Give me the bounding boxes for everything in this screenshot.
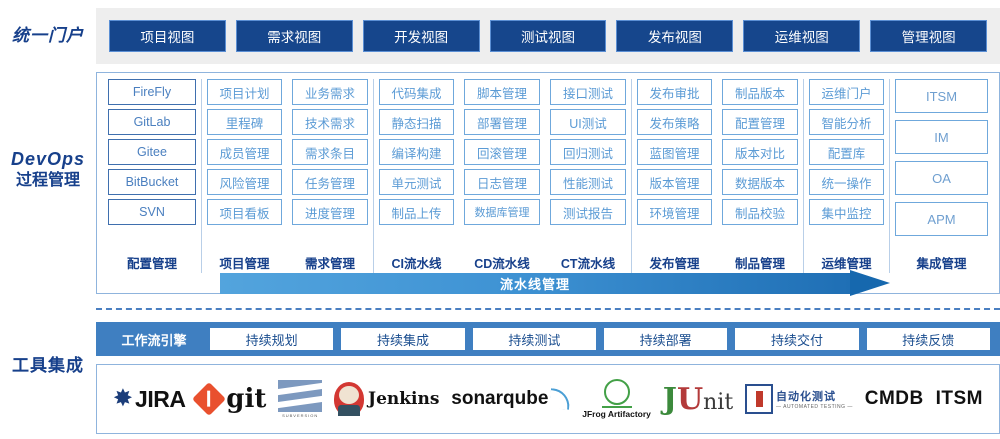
devops-cell[interactable]: 业务需求 [292, 79, 368, 105]
jira-logo: ✸ JIRA [113, 375, 186, 423]
rail-label-devops-en: DevOps [0, 148, 96, 171]
devops-cell[interactable]: 配置管理 [722, 109, 798, 135]
devops-cell[interactable]: IM [895, 120, 988, 154]
workflow-stage-continuous-delivery[interactable]: 持续交付 [735, 328, 858, 350]
workflow-stage-continuous-testing[interactable]: 持续测试 [473, 328, 596, 350]
devops-cell[interactable]: 成员管理 [207, 139, 282, 165]
devops-cell[interactable]: 里程碑 [207, 109, 282, 135]
portal-button-management-view[interactable]: 管理视图 [870, 20, 987, 52]
devops-cell[interactable]: 性能测试 [550, 169, 626, 195]
devops-cell[interactable]: 部署管理 [464, 109, 540, 135]
portal-button-project-view[interactable]: 项目视图 [109, 20, 226, 52]
devops-cell[interactable]: 制品校验 [722, 199, 798, 225]
jira-logo-text: JIRA [135, 386, 185, 413]
devops-cell[interactable]: 静态扫描 [379, 109, 454, 135]
jenkins-butler-icon [334, 382, 364, 416]
devops-column-scm: FireFly GitLab Gitee BitBucket SVN [103, 79, 201, 251]
devops-architecture-diagram: 统一门户 DevOps 过程管理 工具集成 项目视图 需求视图 开发视图 测试视… [0, 0, 1000, 439]
portal-button-operations-view[interactable]: 运维视图 [743, 20, 860, 52]
devops-cell[interactable]: 制品上传 [379, 199, 454, 225]
subversion-logo: SUBVERSION [278, 375, 322, 423]
workflow-engine-band: 工作流引擎 持续规划 持续集成 持续测试 持续部署 持续交付 持续反馈 [96, 322, 1000, 356]
devops-column-release: 发布审批 发布策略 蓝图管理 版本管理 环境管理 [631, 79, 717, 251]
devops-column-requirement: 业务需求 技术需求 需求条目 任务管理 进度管理 [287, 79, 373, 251]
git-logo-text: git [226, 384, 266, 414]
devops-cell[interactable]: 蓝图管理 [637, 139, 712, 165]
jfrog-logo-text: JFrog Artifactory [582, 409, 651, 419]
devops-cell[interactable]: 发布审批 [637, 79, 712, 105]
devops-column-title: 配置管理 [127, 253, 177, 272]
devops-cell[interactable]: 数据库管理 [464, 199, 540, 225]
portal-button-release-view[interactable]: 发布视图 [616, 20, 733, 52]
devops-cell[interactable]: 测试报告 [550, 199, 626, 225]
automated-testing-logo-text: 自动化测试 [776, 388, 853, 404]
devops-column-ct-pipeline: 接口测试 UI测试 回归测试 性能测试 测试报告 [545, 79, 631, 251]
devops-cell[interactable]: 版本管理 [637, 169, 712, 195]
jira-mark-icon: ✸ [113, 387, 133, 411]
devops-column-cd-pipeline: 脚本管理 部署管理 回滚管理 日志管理 数据库管理 [459, 79, 545, 251]
sonarqube-wave-icon [550, 388, 572, 410]
devops-cell[interactable]: 回滚管理 [464, 139, 540, 165]
rail-label-tools: 工具集成 [0, 355, 96, 376]
jfrog-artifactory-logo: JFrog Artifactory [582, 375, 651, 423]
devops-cell[interactable]: 任务管理 [292, 169, 368, 195]
cmdb-logo-text: CMDB [865, 388, 924, 410]
devops-cell[interactable]: 数据版本 [722, 169, 798, 195]
pipeline-arrow-wrap: 流水线管理 [97, 273, 999, 294]
devops-cell[interactable]: 制品版本 [722, 79, 798, 105]
section-divider [96, 308, 1000, 310]
rail-label-devops-cn: 过程管理 [0, 171, 96, 191]
tool-integration-panel: ✸ JIRA git SUBVERSION Jenkins son [96, 364, 1000, 434]
subversion-glyph-icon [278, 380, 322, 412]
devops-cell[interactable]: BitBucket [108, 169, 196, 195]
devops-cell[interactable]: 版本对比 [722, 139, 798, 165]
devops-cell[interactable]: 代码集成 [379, 79, 454, 105]
git-diamond-icon [192, 382, 226, 416]
devops-column-title: 集成管理 [916, 253, 966, 272]
automated-testing-logo: 自动化测试 — AUTOMATED TESTING — [745, 375, 853, 423]
devops-cell[interactable]: UI测试 [550, 109, 626, 135]
devops-cell[interactable]: 脚本管理 [464, 79, 540, 105]
devops-cell[interactable]: APM [895, 202, 988, 236]
devops-column-title: CD流水线 [474, 253, 530, 272]
devops-columns: FireFly GitLab Gitee BitBucket SVN 项目计划 … [97, 73, 999, 251]
subversion-logo-text: SUBVERSION [282, 413, 318, 418]
automated-testing-logo-subtext: — AUTOMATED TESTING — [776, 404, 853, 410]
pipeline-arrow-head-icon [850, 270, 890, 296]
junit-j-glyph: J [663, 382, 677, 417]
devops-column-ci-pipeline: 代码集成 静态扫描 编译构建 单元测试 制品上传 [373, 79, 459, 251]
devops-cell[interactable]: 进度管理 [292, 199, 368, 225]
devops-column-project: 项目计划 里程碑 成员管理 风险管理 项目看板 [201, 79, 287, 251]
jenkins-logo-text: Jenkins [368, 389, 439, 409]
devops-cell[interactable]: 统一操作 [809, 169, 884, 195]
devops-cell[interactable]: 配置库 [809, 139, 884, 165]
devops-column-artifact: 制品版本 配置管理 版本对比 数据版本 制品校验 [717, 79, 803, 251]
devops-cell[interactable]: 日志管理 [464, 169, 540, 195]
workflow-engine-title: 工作流引擎 [102, 330, 206, 349]
portal-button-development-view[interactable]: 开发视图 [363, 20, 480, 52]
portal-button-requirement-view[interactable]: 需求视图 [236, 20, 353, 52]
devops-cell[interactable]: 需求条目 [292, 139, 368, 165]
rail-label-devops: DevOps 过程管理 [0, 148, 96, 191]
devops-column-integration: ITSM IM OA APM [889, 79, 993, 251]
pipeline-arrow: 流水线管理 [220, 273, 895, 294]
devops-cell[interactable]: 接口测试 [550, 79, 626, 105]
sonarqube-logo-text: sonarqube [451, 388, 548, 410]
devops-cell[interactable]: 单元测试 [379, 169, 454, 195]
devops-cell[interactable]: 项目计划 [207, 79, 282, 105]
jfrog-ring-icon [604, 379, 630, 405]
devops-cell[interactable]: 环境管理 [637, 199, 712, 225]
devops-cell[interactable]: 集中监控 [809, 199, 884, 225]
junit-u-glyph: U [677, 382, 703, 417]
devops-cell[interactable]: 发布策略 [637, 109, 712, 135]
devops-cell[interactable]: GitLab [108, 109, 196, 135]
devops-column-title: 制品管理 [735, 253, 785, 272]
jfrog-bar-icon [602, 406, 632, 408]
devops-column-title: CI流水线 [391, 253, 441, 272]
itsm-logo-text: ITSM [936, 388, 983, 410]
devops-column-title: 项目管理 [219, 253, 269, 272]
jenkins-logo: Jenkins [334, 375, 439, 423]
devops-column-title: CT流水线 [561, 253, 615, 272]
junit-nit-glyph: nit [703, 390, 733, 415]
devops-cell[interactable]: 技术需求 [292, 109, 368, 135]
devops-column-title: 需求管理 [305, 253, 355, 272]
devops-cell[interactable]: Gitee [108, 139, 196, 165]
devops-cell[interactable]: ITSM [895, 79, 988, 113]
itsm-logo: ITSM [936, 375, 983, 423]
devops-column-title: 发布管理 [649, 253, 699, 272]
devops-cell[interactable]: SVN [108, 199, 196, 225]
rail-label-portal: 统一门户 [0, 25, 96, 46]
devops-cell[interactable]: OA [895, 161, 988, 195]
workflow-stage-continuous-feedback[interactable]: 持续反馈 [867, 328, 990, 350]
devops-cell[interactable]: 智能分析 [809, 109, 884, 135]
devops-cell[interactable]: 运维门户 [809, 79, 884, 105]
devops-cell[interactable]: 编译构建 [379, 139, 454, 165]
portal-button-test-view[interactable]: 测试视图 [490, 20, 607, 52]
workflow-stage-continuous-planning[interactable]: 持续规划 [210, 328, 333, 350]
workflow-stage-continuous-deployment[interactable]: 持续部署 [604, 328, 727, 350]
sonarqube-logo: sonarqube [451, 375, 570, 423]
portal-band: 项目视图 需求视图 开发视图 测试视图 发布视图 运维视图 管理视图 [96, 8, 1000, 64]
devops-cell[interactable]: FireFly [108, 79, 196, 105]
cmdb-logo: CMDB [865, 375, 924, 423]
git-logo: git [197, 375, 266, 423]
devops-cell[interactable]: 风险管理 [207, 169, 282, 195]
devops-cell[interactable]: 项目看板 [207, 199, 282, 225]
junit-logo: J U nit [663, 375, 733, 423]
pipeline-arrow-label: 流水线管理 [220, 273, 850, 294]
devops-column-operations: 运维门户 智能分析 配置库 统一操作 集中监控 [803, 79, 889, 251]
workflow-stage-continuous-integration[interactable]: 持续集成 [341, 328, 464, 350]
automated-testing-book-icon [745, 384, 773, 414]
devops-cell[interactable]: 回归测试 [550, 139, 626, 165]
devops-process-panel: FireFly GitLab Gitee BitBucket SVN 项目计划 … [96, 72, 1000, 294]
